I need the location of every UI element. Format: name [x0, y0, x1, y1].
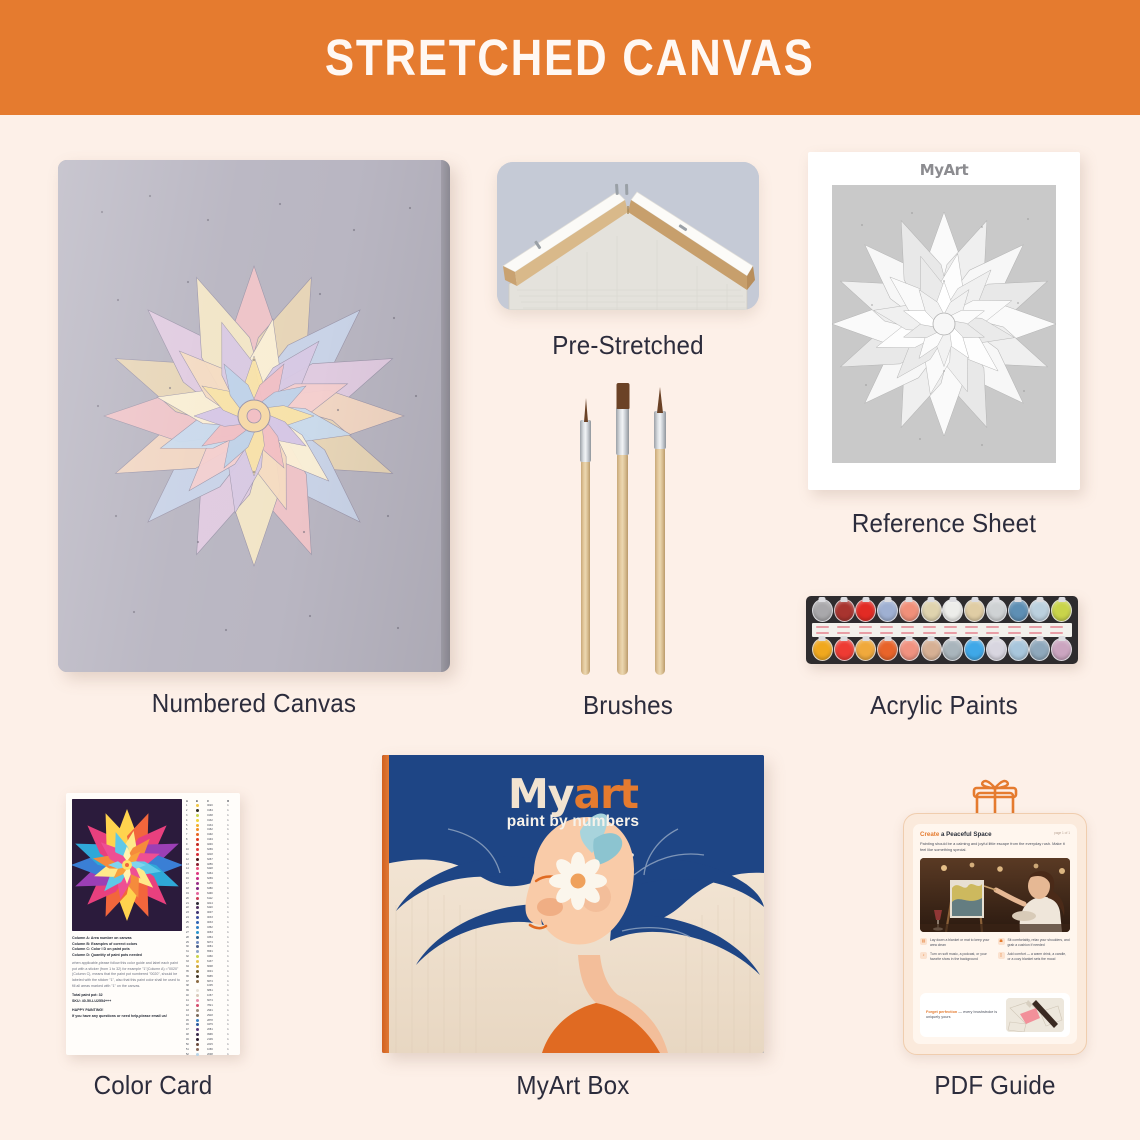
caption-myart-box: MyArt Box	[395, 1070, 750, 1101]
swatch-color-dot	[196, 950, 199, 953]
swatch-table: ABCD100201201841301381401321501341601621…	[186, 801, 234, 1057]
swatch-color-dot	[196, 999, 199, 1002]
reference-sheet-logo: MyArt	[920, 161, 968, 179]
swatch-color-dot	[196, 980, 199, 983]
swatch-color-dot	[196, 1033, 199, 1036]
swatch-color-dot	[196, 965, 199, 968]
paint-pot	[834, 638, 855, 661]
swatch-color-dot	[196, 819, 199, 822]
swatch-color-dot	[196, 814, 199, 817]
blanket-icon: ▤	[920, 938, 927, 945]
swatch-color-dot	[196, 1019, 199, 1022]
color-card-swatch-table: ABCD100201201841301381401321501341601621…	[186, 799, 234, 1051]
paint-label-code	[965, 632, 978, 634]
paint-label-code	[901, 632, 914, 634]
paint-label-code	[859, 626, 872, 628]
paint-label-code	[1029, 626, 1042, 628]
logo-art: art	[574, 770, 639, 818]
pdf-heading: Create a Peaceful Space	[920, 831, 1070, 838]
paint-pot	[1008, 638, 1029, 661]
paint-label-code	[859, 632, 872, 634]
paint-label-code	[816, 626, 829, 628]
paint-label-code	[944, 632, 957, 634]
swatch-color-dot	[196, 1023, 199, 1026]
paint-pot	[899, 638, 920, 661]
pdf-page-label: page 1 of 1	[1054, 831, 1070, 835]
swatch-color-dot	[196, 916, 199, 919]
callout-accent: Forget perfection	[926, 1010, 957, 1014]
swatch-color-dot	[196, 848, 199, 851]
swatch-color-dot	[196, 1009, 199, 1012]
swatch-color-id: 2008	[207, 1053, 227, 1058]
swatch-color-dot	[196, 921, 199, 924]
paint-label-code	[1008, 626, 1021, 628]
reference-sheet-artwork	[832, 185, 1056, 463]
swatch-color-dot	[196, 902, 199, 905]
paint-pot	[812, 599, 833, 622]
swatch-color-dot	[196, 828, 199, 831]
pdf-hero-photo	[920, 858, 1070, 932]
caption-numbered-canvas: Numbered Canvas	[72, 688, 437, 719]
paint-pot	[964, 638, 985, 661]
paint-pot	[877, 599, 898, 622]
swatch-color-dot	[196, 838, 199, 841]
swatch-row: 5220081	[186, 1053, 234, 1058]
pdf-tip-text: Sit comfortably, relax your shoulders, a…	[1008, 938, 1071, 948]
paint-label-code	[880, 626, 893, 628]
swatch-color-dot	[196, 824, 199, 827]
swatch-color-dot	[196, 867, 199, 870]
candle-icon: ▯	[998, 952, 1005, 959]
paint-label-code	[923, 632, 936, 634]
paint-label-code	[965, 626, 978, 628]
paint-pot	[855, 638, 876, 661]
swatch-color-dot	[196, 906, 199, 909]
swatch-color-dot	[196, 955, 199, 958]
pdf-tips-grid: ▤ Lay down a blanket or mat to keep your…	[920, 938, 1070, 962]
swatch-color-dot	[196, 897, 199, 900]
myart-box-product: Myart paint by numbers	[382, 755, 764, 1053]
paint-tray	[806, 596, 1078, 664]
swatch-color-dot	[196, 853, 199, 856]
paint-label-code	[816, 632, 829, 634]
swatch-color-dot	[196, 809, 199, 812]
myart-box-face: Myart paint by numbers	[382, 755, 764, 1053]
frame-corner-illustration	[497, 162, 759, 310]
swatch-color-dot	[196, 887, 199, 890]
caption-reference-sheet: Reference Sheet	[818, 508, 1071, 539]
column-d-desc: Column D: Quantity of paint pots needed	[72, 953, 182, 959]
box-tagline: paint by numbers	[382, 813, 764, 831]
reference-sheet-paper: MyArt	[808, 152, 1080, 490]
vivid-mandala	[72, 799, 182, 931]
stretched-frame-photo	[497, 162, 759, 310]
swatch-color-dot	[196, 1004, 199, 1007]
pdf-callout: Forget perfection — every brushstroke is…	[920, 993, 1070, 1037]
caption-brushes: Brushes	[506, 690, 750, 721]
chair-icon: ☗	[998, 938, 1005, 945]
swatch-color-dot	[196, 1038, 199, 1041]
paint-pot	[921, 638, 942, 661]
product-infographic: STRETCHED CANVAS	[0, 0, 1140, 1140]
paint-label-code	[1029, 632, 1042, 634]
swatch-color-dot	[196, 989, 199, 992]
swatch-color-dot	[196, 960, 199, 963]
paint-label-code	[880, 632, 893, 634]
paint-label-code	[1008, 632, 1021, 634]
paint-pot	[942, 599, 963, 622]
paint-pot	[834, 599, 855, 622]
swatch-color-dot	[196, 970, 199, 973]
paint-pot	[986, 599, 1007, 622]
swatch-color-dot	[196, 877, 199, 880]
swatch-area-number: 52	[186, 1053, 196, 1058]
paint-label-code	[986, 632, 999, 634]
paint-pot	[812, 638, 833, 661]
brush-on-canvas-photo	[1006, 998, 1064, 1032]
paint-row-top	[812, 599, 1072, 622]
color-card-artwork	[72, 799, 182, 931]
acrylic-paints-product	[806, 596, 1078, 664]
canvas-right-edge	[441, 160, 450, 672]
canvas-board	[58, 160, 450, 672]
flat-brush	[617, 387, 628, 675]
pdf-tip: ▤ Lay down a blanket or mat to keep your…	[920, 938, 993, 948]
paint-label-code	[1050, 626, 1063, 628]
paint-pot	[1051, 599, 1072, 622]
pre-stretched-product	[497, 162, 759, 310]
swatch-quantity: 1	[227, 1053, 234, 1058]
swatch-color-dot	[196, 1048, 199, 1051]
color-card-left-column: Column A: Area number on canvas Column B…	[72, 799, 182, 1051]
swatch-color-dot	[196, 843, 199, 846]
swatch-color-dot	[196, 936, 199, 939]
pdf-tip-text: Turn on soft music, a podcast, or your f…	[930, 952, 993, 962]
caption-color-card: Color Card	[55, 1070, 250, 1101]
pdf-guide-page: page 1 of 1 Create a Peaceful Space Pain…	[913, 824, 1077, 1044]
round-brush	[655, 399, 665, 675]
color-card-paper: Column A: Area number on canvas Column B…	[66, 793, 240, 1055]
swatch-color-dot	[196, 892, 199, 895]
swatch-color-dot	[196, 872, 199, 875]
swatch-color-dot	[196, 994, 199, 997]
paint-row-bottom	[812, 638, 1072, 661]
page-header: STRETCHED CANVAS	[0, 0, 1140, 115]
swatch-color-dot	[196, 1014, 199, 1017]
color-card-text: Column A: Area number on canvas Column B…	[72, 936, 182, 1019]
paint-pot	[1029, 638, 1050, 661]
paint-pot	[855, 599, 876, 622]
page-title: STRETCHED CANVAS	[325, 28, 815, 87]
swatch-color-dot	[196, 863, 199, 866]
paint-label-code	[923, 626, 936, 628]
swatch-color-dot	[196, 858, 199, 861]
greyscale-mandala	[832, 185, 1056, 463]
pdf-intro: Painting should be a calming and joyful …	[920, 841, 1070, 853]
paint-label-code	[901, 626, 914, 628]
swatch-color-dot	[196, 931, 199, 934]
paint-pot	[1051, 638, 1072, 661]
sku-line: SKU: 40-50-LU2554+++	[72, 999, 182, 1005]
swatch-color-dot	[196, 975, 199, 978]
swatch-color-dot	[196, 882, 199, 885]
caption-pdf-guide: PDF Guide	[897, 1070, 1092, 1101]
pdf-heading-rest: a Peaceful Space	[939, 831, 991, 838]
pdf-tip: ♪ Turn on soft music, a podcast, or your…	[920, 952, 993, 962]
pdf-tip: ▯ Add comfort — a warm drink, a candle, …	[998, 952, 1071, 962]
paint-label-code	[1050, 632, 1063, 634]
paint-pot	[1008, 599, 1029, 622]
brushes-product	[575, 385, 680, 675]
paint-pot	[964, 599, 985, 622]
paint-pot	[921, 599, 942, 622]
paint-pot	[1029, 599, 1050, 622]
swatch-color-dot	[196, 911, 199, 914]
swatch-color-dot	[196, 1053, 199, 1056]
callout-photo	[1006, 998, 1064, 1032]
color-card-note: when applicable,please follow this color…	[72, 961, 182, 989]
pdf-guide-card: page 1 of 1 Create a Peaceful Space Pain…	[903, 813, 1087, 1055]
paint-label-code	[986, 626, 999, 628]
myart-logo: Myart	[382, 770, 764, 818]
pdf-heading-accent: Create	[920, 831, 939, 838]
paint-label-strip	[812, 623, 1072, 637]
pdf-guide-product: page 1 of 1 Create a Peaceful Space Pain…	[903, 777, 1087, 1055]
paint-label-code	[837, 626, 850, 628]
swatch-color-dot	[196, 926, 199, 929]
swatch-color-cell	[196, 1053, 207, 1058]
paint-pot	[986, 638, 1007, 661]
swatch-color-dot	[196, 1043, 199, 1046]
paint-label-code	[944, 626, 957, 628]
pdf-callout-text: Forget perfection — every brushstroke is…	[926, 1010, 1001, 1021]
swatch-color-dot	[196, 941, 199, 944]
woman-painting-photo	[920, 858, 1070, 932]
music-icon: ♪	[920, 952, 927, 959]
paint-pot	[942, 638, 963, 661]
pdf-tip-text: Add comfort — a warm drink, a candle, or…	[1008, 952, 1071, 962]
pdf-tip-text: Lay down a blanket or mat to keep your a…	[930, 938, 993, 948]
pdf-tip: ☗ Sit comfortably, relax your shoulders,…	[998, 938, 1071, 948]
swatch-color-dot	[196, 945, 199, 948]
caption-pre-stretched: Pre-Stretched	[506, 330, 750, 361]
detail-liner-brush	[581, 417, 590, 675]
paint-label-code	[837, 632, 850, 634]
swatch-color-dot	[196, 1028, 199, 1031]
swatch-color-dot	[196, 804, 199, 807]
contact-line: If you have any questions or need help,p…	[72, 1014, 182, 1020]
paint-pot	[899, 599, 920, 622]
logo-my: My	[508, 770, 574, 818]
paint-pot	[877, 638, 898, 661]
numbered-canvas-product	[58, 160, 450, 672]
swatch-color-dot	[196, 833, 199, 836]
reference-sheet-product: MyArt	[808, 152, 1080, 490]
color-card-product: Column A: Area number on canvas Column B…	[66, 793, 240, 1055]
caption-acrylic-paints: Acrylic Paints	[818, 690, 1071, 721]
mandala-canvas-artwork	[58, 160, 450, 672]
swatch-color-dot	[196, 984, 199, 987]
